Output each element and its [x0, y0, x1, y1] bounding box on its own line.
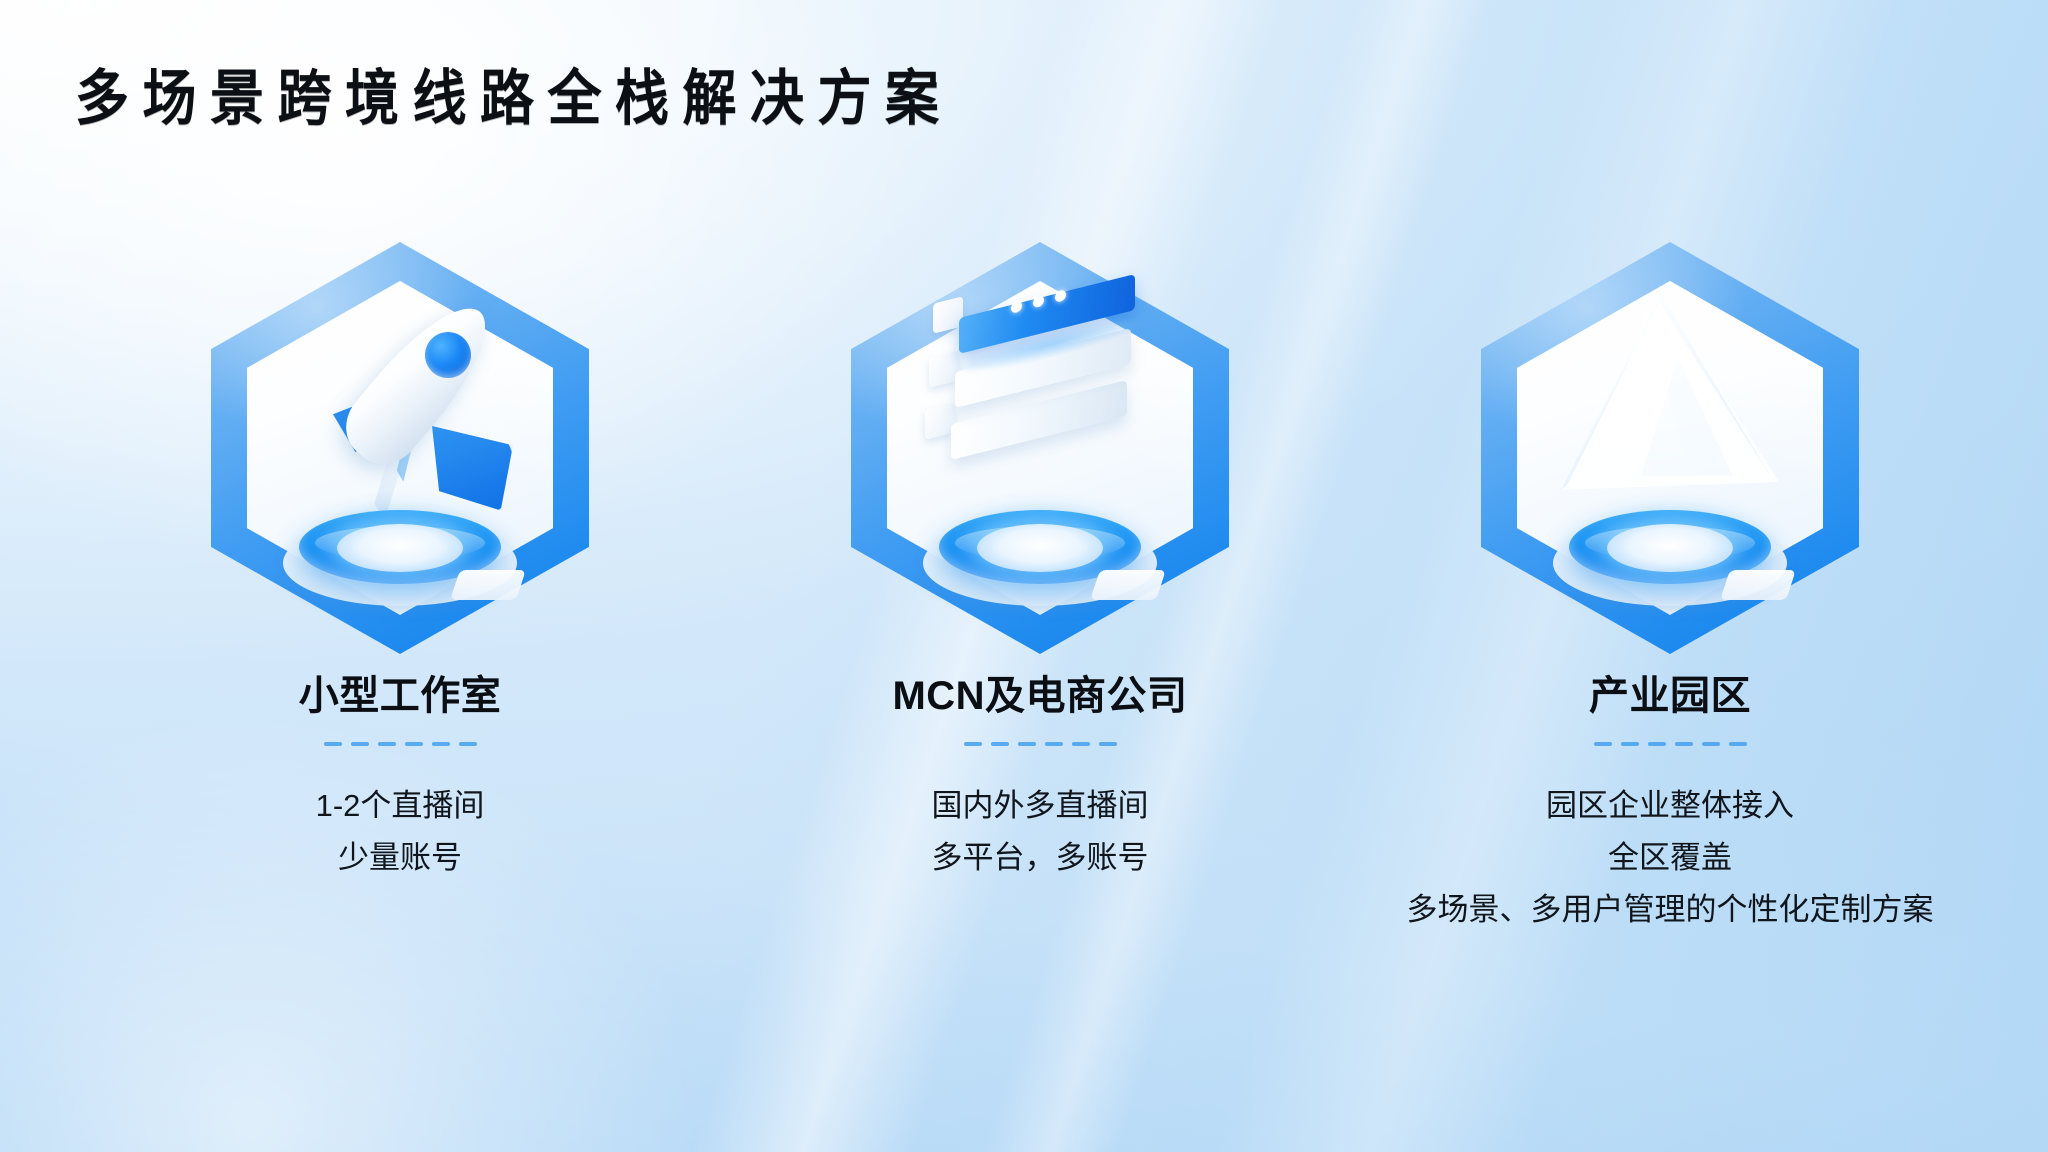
divider-dash	[1729, 742, 1747, 746]
card-body-line: 1-2个直播间	[90, 780, 710, 832]
pyramid-edge	[1561, 294, 1779, 490]
card-industrial-park: 产业园区 园区企业整体接入 全区覆盖 多场景、多用户管理的个性化定制方案	[1360, 228, 1980, 936]
divider-dash	[1099, 742, 1117, 746]
card-divider	[1590, 742, 1750, 746]
divider-dash	[1702, 742, 1720, 746]
card-body-line: 少量账号	[90, 832, 710, 884]
divider-dash	[432, 742, 450, 746]
slide-root: 多场景跨境线路全栈解决方案	[0, 0, 2048, 1152]
card-body-line: 国内外多直播间	[730, 780, 1350, 832]
card-title: 小型工作室	[90, 670, 710, 722]
divider-dash	[964, 742, 982, 746]
divider-dash	[324, 742, 342, 746]
pyramid-icon	[1545, 294, 1795, 504]
card-title: MCN及电商公司	[730, 670, 1350, 722]
card-body: 国内外多直播间 多平台，多账号	[730, 780, 1350, 884]
card-mcn-ecommerce: MCN及电商公司 国内外多直播间 多平台，多账号	[730, 228, 1350, 884]
hexagon-badge	[1475, 228, 1865, 658]
hexagon-badge	[845, 228, 1235, 658]
card-title: 产业园区	[1360, 670, 1980, 722]
card-divider	[960, 742, 1120, 746]
divider-dash	[1675, 742, 1693, 746]
card-body-line: 全区覆盖	[1360, 832, 1980, 884]
divider-dash	[991, 742, 1009, 746]
card-body-line: 多平台，多账号	[730, 832, 1350, 884]
divider-dash	[1045, 742, 1063, 746]
card-list: 小型工作室 1-2个直播间 少量账号	[0, 228, 2048, 1088]
page-title: 多场景跨境线路全栈解决方案	[75, 62, 953, 136]
glowing-base-ring-icon	[915, 486, 1165, 606]
base-notch	[1090, 570, 1166, 600]
divider-dash	[1018, 742, 1036, 746]
base-ring-inner-glow	[1607, 524, 1733, 572]
divider-dash	[378, 742, 396, 746]
base-ring-inner-glow	[337, 524, 463, 572]
card-divider	[320, 742, 480, 746]
card-body-line: 多场景、多用户管理的个性化定制方案	[1360, 884, 1980, 936]
divider-dash	[1648, 742, 1666, 746]
card-body-line: 园区企业整体接入	[1360, 780, 1980, 832]
divider-dash	[351, 742, 369, 746]
divider-dash	[1072, 742, 1090, 746]
glowing-base-ring-icon	[275, 486, 525, 606]
rocket-window-icon	[425, 332, 471, 378]
card-small-studio: 小型工作室 1-2个直播间 少量账号	[90, 228, 710, 884]
divider-dash	[1594, 742, 1612, 746]
glowing-base-ring-icon	[1545, 486, 1795, 606]
card-body: 1-2个直播间 少量账号	[90, 780, 710, 884]
base-ring-inner-glow	[977, 524, 1103, 572]
server-stack-icon	[915, 288, 1165, 518]
divider-dash	[459, 742, 477, 746]
base-notch	[1720, 570, 1796, 600]
divider-dash	[405, 742, 423, 746]
divider-dash	[1621, 742, 1639, 746]
card-body: 园区企业整体接入 全区覆盖 多场景、多用户管理的个性化定制方案	[1360, 780, 1980, 936]
hexagon-badge	[205, 228, 595, 658]
base-notch	[450, 570, 526, 600]
